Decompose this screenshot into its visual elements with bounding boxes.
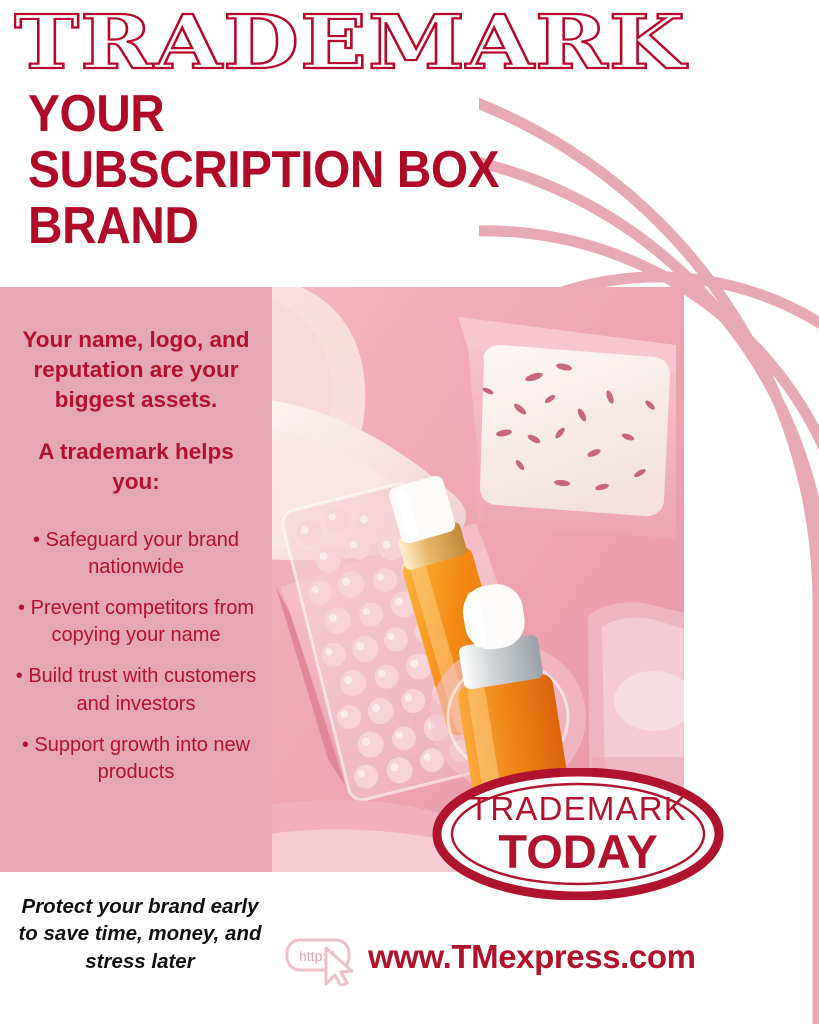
benefit-text: • Prevent competitors from copying your … (18, 597, 254, 646)
page-title: YOUR SUBSCRIPTION BOX BRAND (28, 86, 617, 254)
headline-line-1: YOUR (28, 86, 617, 142)
headline-line-2: SUBSCRIPTION BOX (28, 142, 617, 198)
benefit-text: • Support growth into new products (22, 734, 250, 783)
benefits-list: • Safeguard your brand nationwide • Prev… (14, 527, 258, 787)
poster-canvas: TRADEMARK YOUR SUBSCRIPTION BOX BRAND (0, 0, 819, 1024)
website-row[interactable]: http:// www.TMexpress.com (284, 928, 696, 986)
headline-line-3: BRAND (28, 198, 617, 254)
panel-subhead: A trademark helps you: (18, 437, 254, 497)
list-item: • Support growth into new products (14, 732, 258, 786)
footer-tagline: Protect your brand early to save time, m… (14, 893, 266, 975)
website-url[interactable]: www.TMexpress.com (368, 938, 696, 976)
list-item: • Build trust with customers and investo… (14, 663, 258, 717)
list-item: • Safeguard your brand nationwide (14, 527, 258, 581)
badge-bottom-word: TODAY (498, 825, 657, 878)
benefit-text: • Build trust with customers and investo… (16, 665, 256, 714)
benefits-panel: Your name, logo, and reputation are your… (0, 287, 272, 872)
benefit-text: • Safeguard your brand nationwide (33, 529, 239, 578)
panel-lead-text: Your name, logo, and reputation are your… (18, 325, 254, 415)
trademark-today-badge[interactable]: TRADEMARK TODAY (432, 768, 724, 900)
list-item: • Prevent competitors from copying your … (14, 595, 258, 649)
badge-top-word: TRADEMARK (469, 790, 687, 827)
outlined-trademark-text: TRADEMARK (14, 6, 688, 84)
outlined-trademark-wordmark: TRADEMARK (14, 6, 694, 84)
url-bar-cursor-icon: http:// (284, 928, 360, 986)
